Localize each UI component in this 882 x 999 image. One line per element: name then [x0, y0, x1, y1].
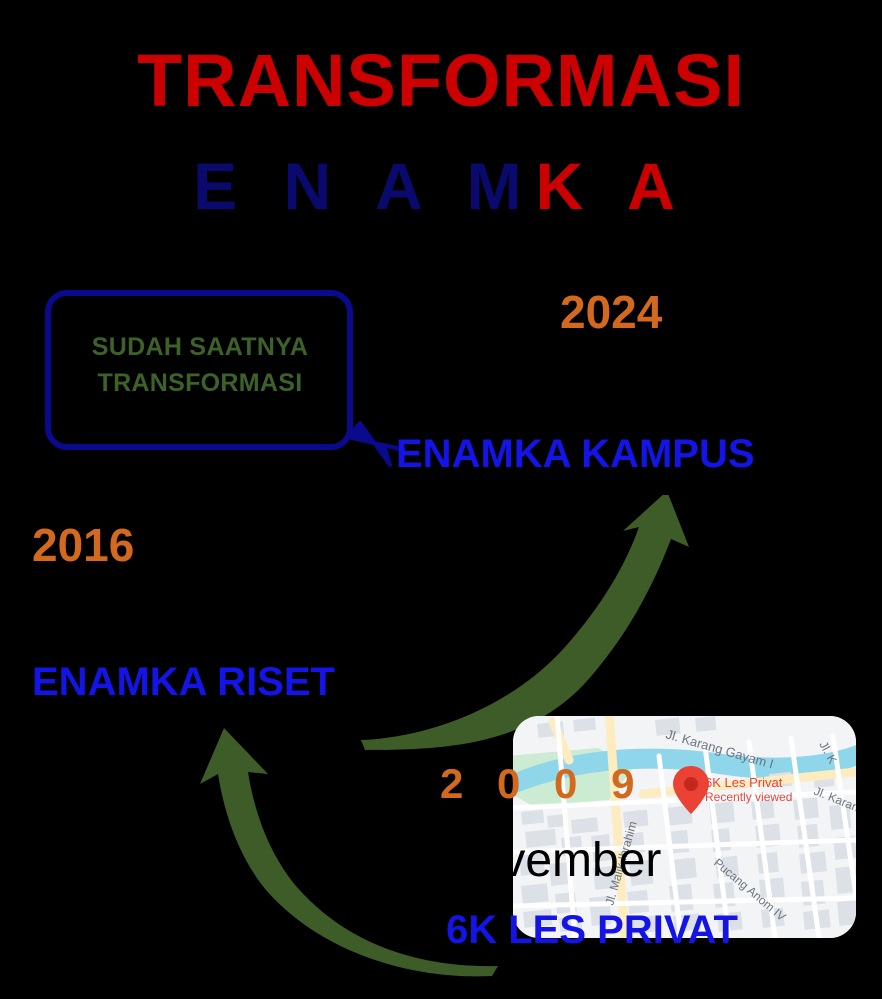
page-subtitle-segment-ka: K A — [536, 149, 689, 223]
stage-label-6k-les-privat: 6K LES PRIVAT — [446, 908, 738, 953]
stage-label-enamka-riset: ENAMKA RISET — [32, 660, 335, 705]
stage-label-enamka-kampus: ENAMKA KAMPUS — [396, 432, 755, 477]
page-subtitle: E N A MK A — [0, 152, 882, 221]
speech-bubble-line-1: SUDAH SAATNYA — [62, 329, 338, 365]
slide-canvas: TRANSFORMASI E N A MK A SUDAH SAATNYA TR… — [0, 0, 882, 999]
speech-bubble-line-2: TRANSFORMASI — [62, 365, 338, 401]
year-label-2009: 2 0 0 9 — [440, 760, 645, 808]
speech-bubble: SUDAH SAATNYA TRANSFORMASI — [40, 283, 400, 483]
growth-arrow-upper-icon — [355, 495, 705, 750]
page-subtitle-segment-enam: E N A M — [193, 149, 535, 223]
speech-bubble-text: SUDAH SAATNYA TRANSFORMASI — [62, 329, 338, 402]
year-label-2016: 2016 — [32, 518, 134, 572]
map-card[interactable]: Jl. Karang Gayam I Jl. K Jl. Karang Jl. … — [513, 716, 856, 938]
page-title: TRANSFORMASI — [0, 42, 882, 120]
year-label-2024: 2024 — [560, 285, 662, 339]
map-tile-image: Jl. Karang Gayam I Jl. K Jl. Karang Jl. … — [513, 716, 856, 938]
map-pin-title: 6K Les Privat — [705, 776, 792, 791]
map-pin-subtitle: Recently viewed — [705, 791, 792, 805]
map-pin-label: 6K Les Privat Recently viewed — [705, 776, 792, 805]
month-label-november: November — [440, 833, 661, 888]
